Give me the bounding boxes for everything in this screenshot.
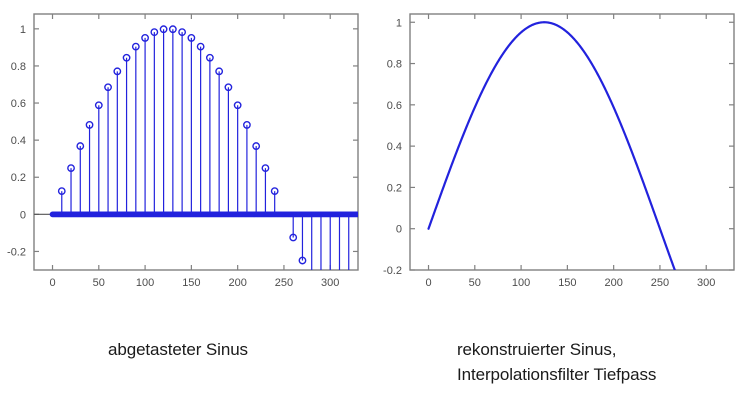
y-tick-label: 0 bbox=[20, 209, 26, 221]
x-tick-label: 150 bbox=[182, 277, 200, 289]
plot-frame bbox=[34, 14, 358, 270]
x-tick-label: 50 bbox=[93, 277, 105, 289]
sampled-sine-svg: 050100150200250300-0.200.20.40.60.81 bbox=[0, 0, 376, 300]
y-tick-label: -0.2 bbox=[383, 265, 402, 277]
y-tick-label: 0.8 bbox=[387, 59, 402, 71]
x-tick-label: 200 bbox=[228, 277, 246, 289]
x-tick-label: 0 bbox=[49, 277, 55, 289]
x-tick-label: 300 bbox=[697, 277, 715, 289]
y-tick-label: 0.4 bbox=[11, 135, 26, 147]
x-tick-label: 200 bbox=[604, 277, 622, 289]
caption-reconstructed-sine: rekonstruierter Sinus, Interpolationsfil… bbox=[457, 338, 656, 387]
x-tick-label: 100 bbox=[136, 277, 154, 289]
y-tick-label: 0.6 bbox=[11, 98, 26, 110]
x-tick-label: 300 bbox=[321, 277, 339, 289]
y-tick-label: 0.2 bbox=[387, 182, 402, 194]
y-tick-label: -0.2 bbox=[7, 246, 26, 258]
stem-marker bbox=[309, 279, 315, 285]
y-tick-label: 1 bbox=[396, 17, 402, 29]
sampled-sine-plot: 050100150200250300-0.200.20.40.60.81 bbox=[0, 0, 376, 300]
stem-series bbox=[34, 26, 360, 300]
y-tick-label: 0 bbox=[396, 224, 402, 236]
y-tick-label: 1 bbox=[20, 24, 26, 36]
figure-container: 050100150200250300-0.200.20.40.60.81 050… bbox=[0, 0, 752, 407]
y-tick-label: 0.6 bbox=[387, 100, 402, 112]
plot-frame bbox=[410, 14, 734, 270]
y-tick-label: 0.4 bbox=[387, 141, 402, 153]
reconstructed-sine-svg: 050100150200250300-0.200.20.40.60.81 bbox=[376, 0, 752, 300]
x-tick-label: 50 bbox=[469, 277, 481, 289]
reconstructed-sine-curve bbox=[429, 22, 677, 274]
y-tick-label: 0.8 bbox=[11, 61, 26, 73]
x-tick-label: 150 bbox=[558, 277, 576, 289]
x-tick-label: 250 bbox=[275, 277, 293, 289]
y-tick-label: 0.2 bbox=[11, 172, 26, 184]
x-tick-label: 100 bbox=[512, 277, 530, 289]
reconstructed-sine-plot: 050100150200250300-0.200.20.40.60.81 bbox=[376, 0, 752, 300]
caption-sampled-sine: abgetasteter Sinus bbox=[108, 338, 248, 363]
x-tick-label: 250 bbox=[651, 277, 669, 289]
x-tick-label: 0 bbox=[425, 277, 431, 289]
